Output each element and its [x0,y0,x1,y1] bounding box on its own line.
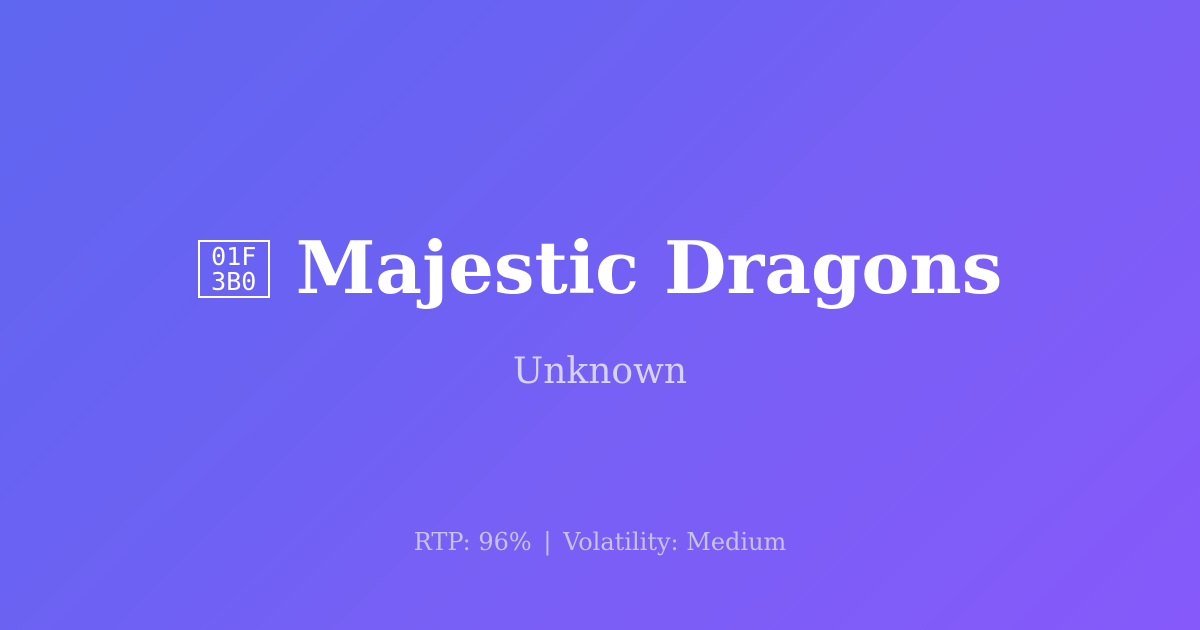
hero-block: 01F 3B0 Majestic Dragons Unknown [0,222,1200,394]
tofu-codepoint-top: 01F [211,244,256,269]
tofu-codepoint-bottom: 3B0 [211,269,256,294]
page-subtitle: Unknown [513,350,687,394]
og-card: 01F 3B0 Majestic Dragons Unknown RTP: 96… [0,0,1200,630]
meta-separator: | [539,528,555,556]
title-row: 01F 3B0 Majestic Dragons [198,222,1003,314]
volatility-label: Volatility: Medium [563,528,786,556]
game-meta-line: RTP: 96% | Volatility: Medium [0,527,1200,557]
slot-machine-emoji-icon: 01F 3B0 [198,240,270,298]
page-title: Majestic Dragons [296,222,1003,314]
rtp-label: RTP: 96% [414,528,532,556]
